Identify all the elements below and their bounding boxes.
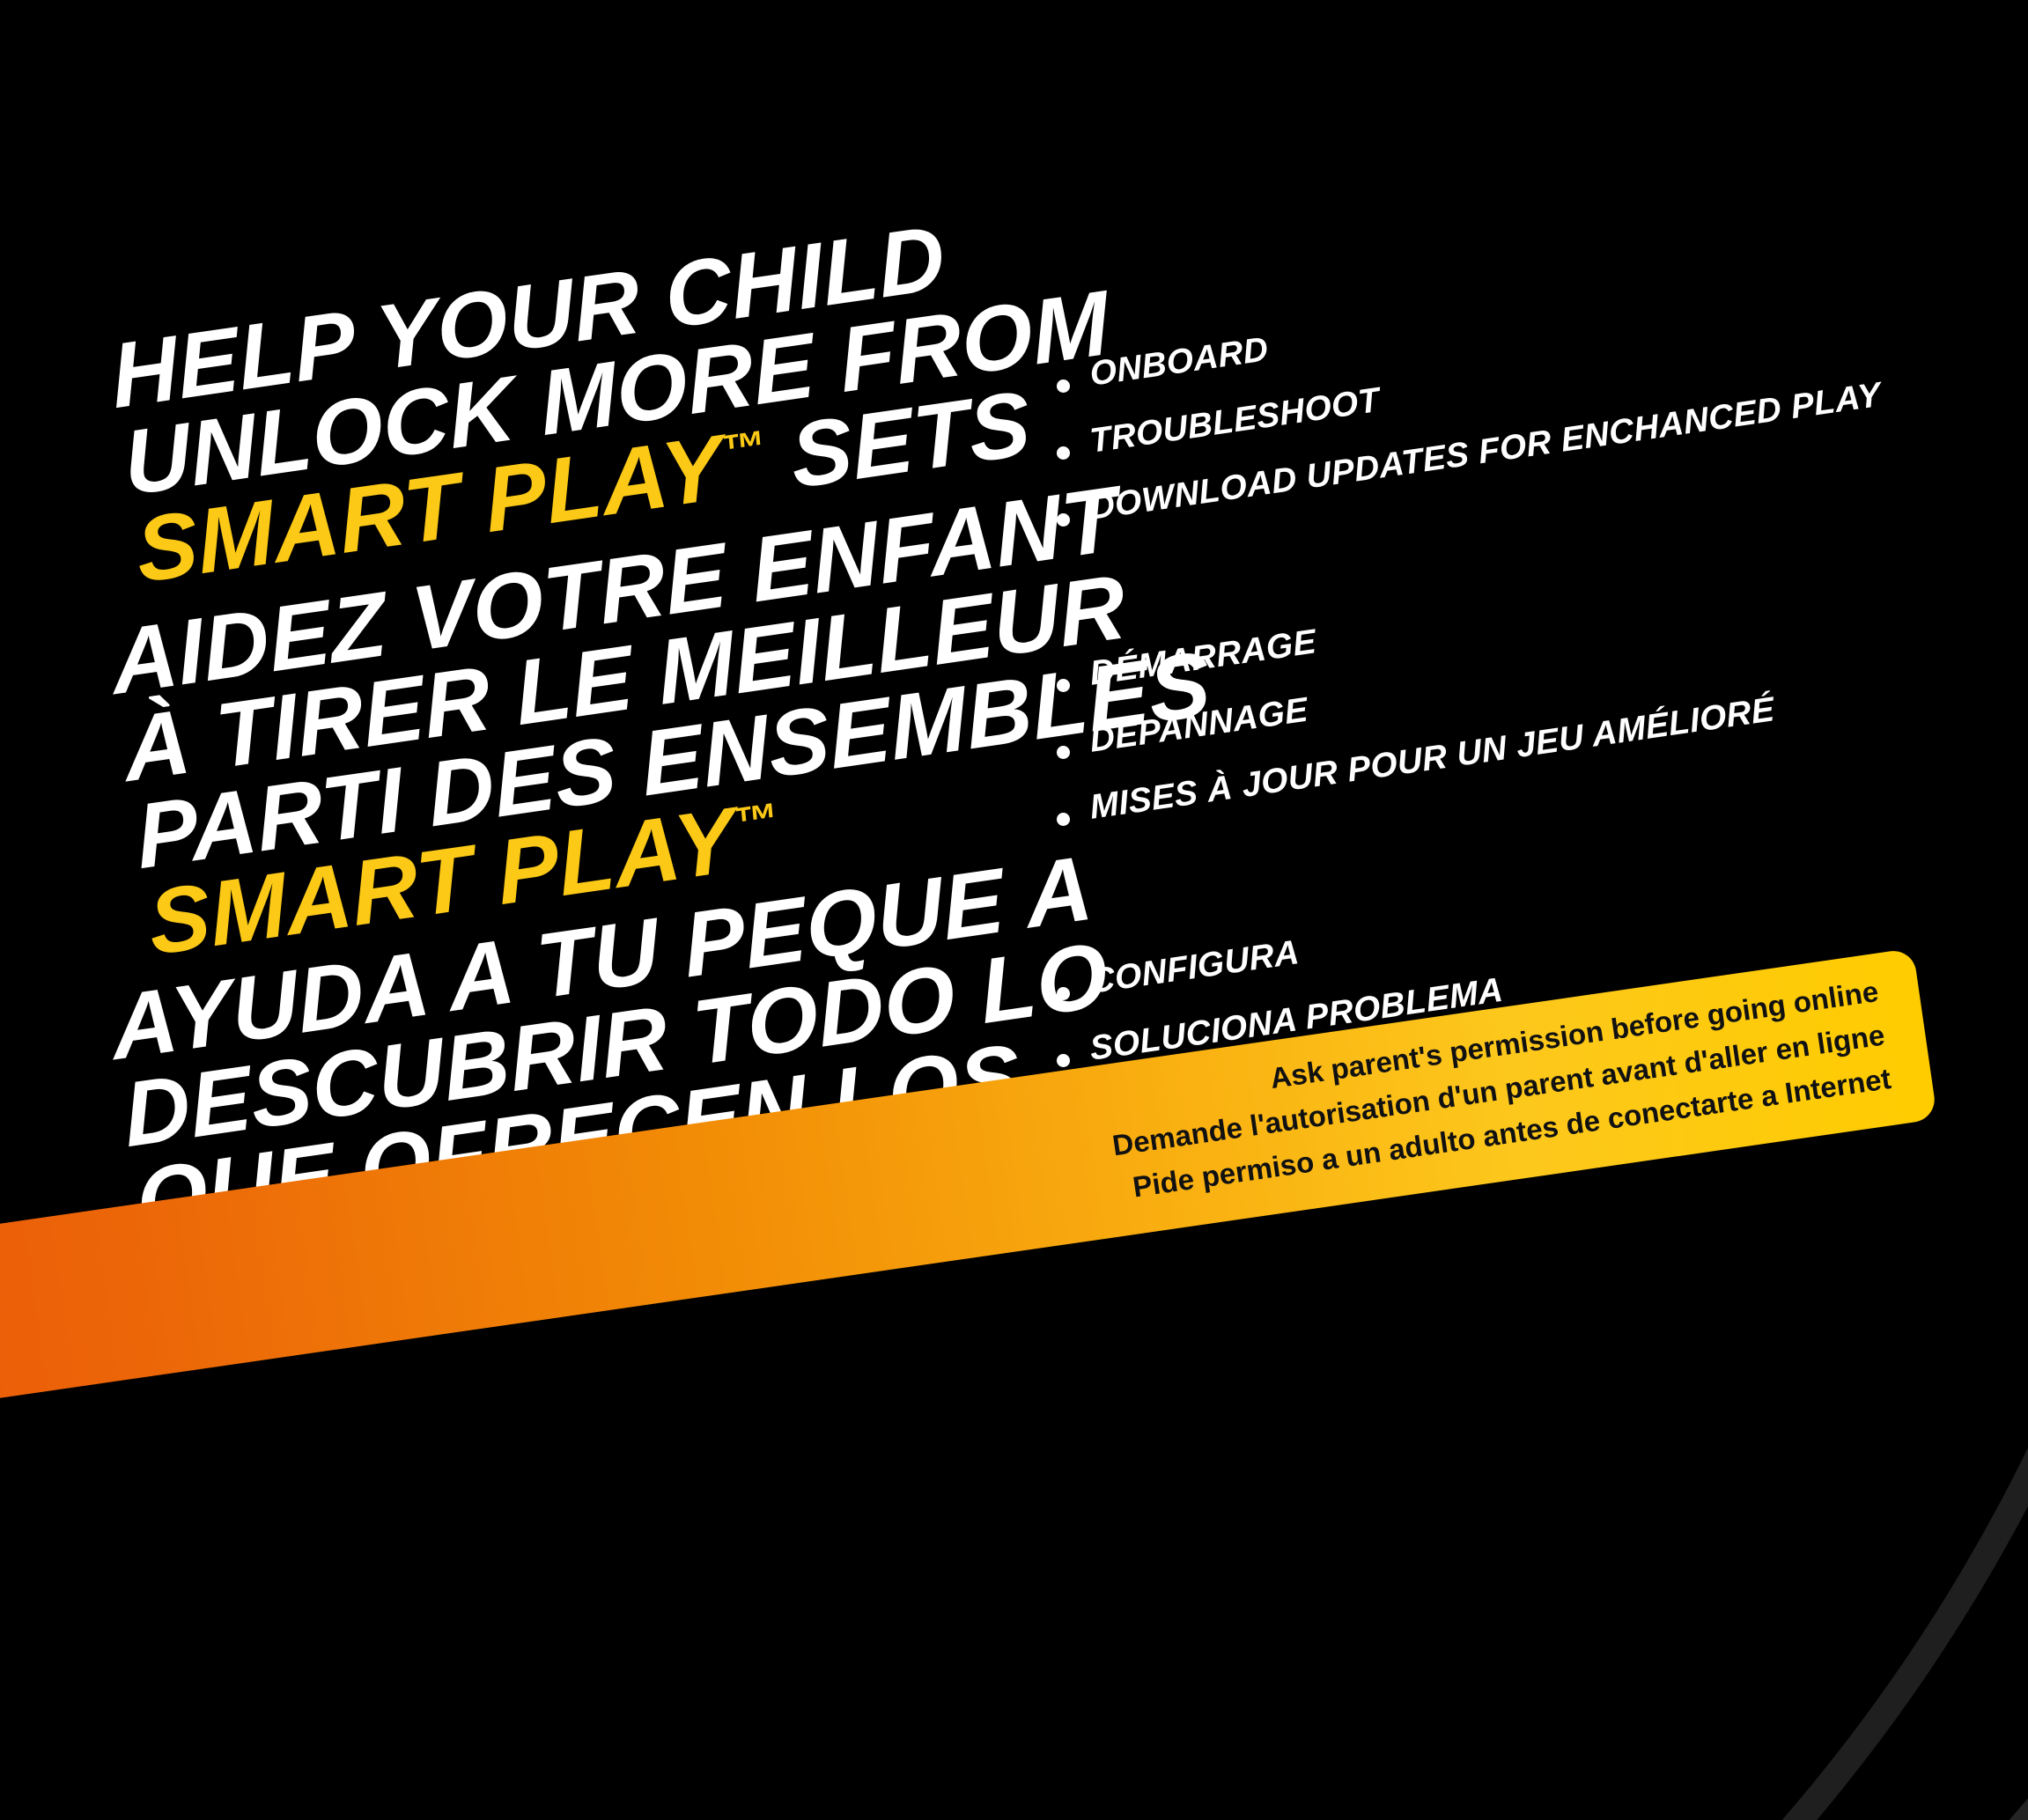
- list-item: DOWNLOAD UPDATES FOR ENCHANCED PLAY: [1057, 490, 2028, 549]
- bullet-list-english: ONBOARD TROUBLESHOOT DOWNLOAD UPDATES FO…: [1057, 357, 2028, 557]
- bullet-dot-icon: [1057, 1054, 1070, 1067]
- bullet-dot-icon: [1057, 379, 1070, 393]
- banner-right-mask: [1845, 1116, 2028, 1467]
- bullet-dot-icon: [1057, 813, 1070, 826]
- bullet-dot-icon: [1057, 679, 1070, 692]
- trademark-icon-en: ™: [719, 421, 766, 476]
- bullet-dot-icon: [1057, 746, 1070, 759]
- bullet-dot-icon: [1057, 987, 1070, 1000]
- poster-canvas: HELP YOUR CHILD UNLOCK MORE FROM SMART P…: [0, 0, 2028, 1820]
- bullet-list-french: DÉMARRAGE DÉPANNAGE MISES À JOUR POUR UN…: [1057, 656, 2028, 857]
- list-item: MISES À JOUR POUR UN JEU AMÉLIORÉ: [1057, 790, 2028, 848]
- bullet-dot-icon: [1057, 446, 1070, 460]
- bullet-label: ONBOARD: [1088, 331, 1271, 394]
- bullet-dot-icon: [1057, 513, 1070, 527]
- trademark-icon-fr: ™: [731, 793, 778, 849]
- bullet-label: CONFIGURA: [1088, 934, 1302, 1001]
